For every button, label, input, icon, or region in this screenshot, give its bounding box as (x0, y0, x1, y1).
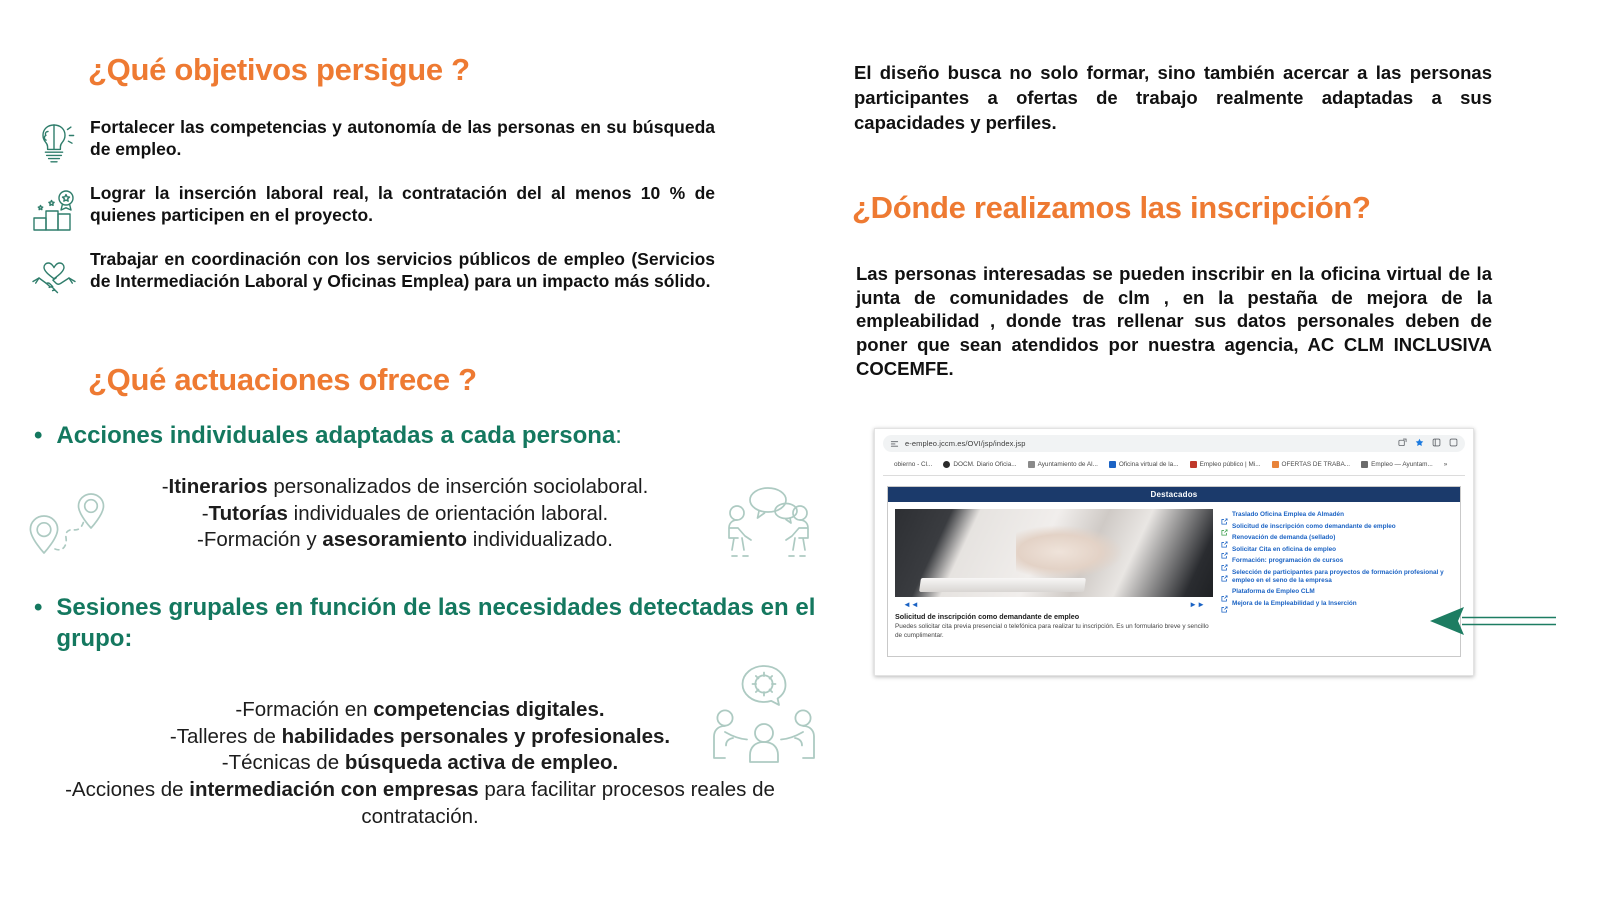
carousel-controls: ◄◄ ►► (895, 597, 1213, 611)
bookmark-label: Oficina virtual de la... (1119, 461, 1179, 468)
sub-list-item: -Acciones de intermediación con empresas… (15, 777, 825, 830)
external-link-icon (1221, 535, 1228, 542)
featured-panel: ◄◄ ►► Solicitud de inscripción como dema… (895, 509, 1213, 640)
bookmark-item[interactable]: Empleo público | Mi... (1190, 461, 1261, 468)
handshake-heart-icon (28, 250, 80, 302)
podium-medal-icon (28, 184, 80, 236)
bookmark-item[interactable]: DOCM. Diario Oficia... (943, 461, 1016, 468)
browser-viewport: Destacados ◄◄ ►► Solicitud de inscripció… (875, 476, 1473, 661)
address-bar-url[interactable]: e-empleo.jccm.es/OVI/jsp/index.jsp (905, 439, 1392, 448)
sub-prefix: - (162, 475, 169, 498)
external-link-icon (1221, 523, 1228, 530)
bookmark-star-icon[interactable] (1415, 438, 1424, 449)
destacados-header: Destacados (888, 487, 1460, 502)
slide-root: ¿Qué objetivos persigue ? Fortalecer las… (0, 0, 1600, 900)
paragraph-inscribir: Las personas interesadas se pueden inscr… (856, 262, 1492, 380)
list-item-label: Selección de participantes para proyecto… (1232, 569, 1454, 586)
right-column: El diseño busca no solo formar, sino tam… (840, 0, 1600, 900)
omnibar-actions (1398, 438, 1458, 449)
list-item[interactable]: Plataforma de Empleo CLM (1221, 588, 1454, 596)
sub-list-item: -Formación y asesoramiento individualiza… (95, 527, 715, 554)
list-item-label: Renovación de demanda (sellado) (1232, 534, 1335, 542)
sub-prefix: -Formación en (235, 698, 373, 721)
sub-list-item: -Itinerarios personalizados de inserción… (95, 474, 715, 501)
sub-list-item: -Tutorías individuales de orientación la… (95, 501, 715, 528)
list-item[interactable]: Renovación de demanda (sellado) (1221, 534, 1454, 542)
sub-rest: individualizado. (467, 528, 613, 551)
destacados-body: ◄◄ ►► Solicitud de inscripción como dema… (888, 502, 1460, 645)
destacados-card: Destacados ◄◄ ►► Solicitud de inscripció… (887, 486, 1461, 657)
site-settings-icon[interactable] (890, 439, 899, 448)
objective-text: Trabajar en coordinación con los servici… (90, 248, 715, 293)
bullet-label: Sesiones grupales en función de las nece… (56, 592, 834, 654)
external-link-icon (1221, 569, 1228, 576)
bookmark-favicon (1109, 461, 1116, 468)
bookmark-item[interactable]: obierno - Cl... (884, 461, 932, 468)
carousel-prev-icon[interactable]: ◄◄ (903, 600, 919, 609)
sub-bold: Itinerarios (169, 475, 268, 498)
list-item[interactable]: Mejora de la Empleabilidad y la Inserció… (1221, 600, 1454, 608)
list-item-label: Traslado Oficina Emplea de Almadén (1232, 511, 1344, 519)
bookmark-item[interactable]: Ayuntamiento de Al... (1028, 461, 1098, 468)
sub-prefix: -Formación y (197, 528, 322, 551)
list-item[interactable]: Solicitar Cita en oficina de empleo (1221, 546, 1454, 554)
sub-list-item: -Talleres de habilidades personales y pr… (15, 724, 825, 751)
featured-description: Puedes solicitar cita previa presencial … (895, 623, 1213, 640)
bookmark-item[interactable]: Empleo — Ayuntam... (1361, 461, 1433, 468)
sub-bold: intermediación con empresas (189, 778, 478, 801)
sub-prefix: -Talleres de (170, 725, 282, 748)
featured-photo (895, 509, 1213, 597)
external-link-icon (1221, 600, 1228, 607)
browser-screenshot: e-empleo.jccm.es/OVI/jsp/index.jsp (874, 428, 1474, 676)
list-item[interactable]: Formación: programación de cursos (1221, 557, 1454, 565)
featured-title: Solicitud de inscripción como demandante… (895, 612, 1213, 621)
sub-prefix: - (202, 502, 209, 525)
external-link-icon (1221, 546, 1228, 553)
sub-bold: competencias digitales. (373, 698, 604, 721)
sub-bold: habilidades personales y profesionales. (282, 725, 671, 748)
objective-text: Lograr la inserción laboral real, la con… (90, 182, 715, 227)
sub-bold: asesoramiento (322, 528, 467, 551)
external-link-icon (1221, 558, 1228, 565)
bookmark-favicon (1361, 461, 1368, 468)
bullet-acciones-individuales: • Acciones individuales adaptadas a cada… (34, 420, 824, 451)
sub-bold: Tutorías (209, 502, 288, 525)
sub-list-item: -Técnicas de búsqueda activa de empleo. (15, 750, 825, 777)
bookmarks-bar: obierno - Cl... DOCM. Diario Oficia... A… (883, 456, 1465, 472)
bookmark-favicon (1028, 461, 1035, 468)
list-item[interactable]: Traslado Oficina Emplea de Almadén (1221, 511, 1454, 519)
bookmark-favicon (1272, 461, 1279, 468)
bookmark-label: obierno - Cl... (894, 461, 932, 468)
carousel-next-icon[interactable]: ►► (1189, 600, 1205, 609)
heading-actuaciones: ¿Qué actuaciones ofrece ? (88, 362, 477, 398)
destacados-link-list: Traslado Oficina Emplea de Almadén Solic… (1221, 509, 1454, 640)
sub-list-grupal: -Formación en competencias digitales. -T… (15, 697, 825, 830)
share-icon[interactable] (1398, 438, 1407, 449)
objective-text: Fortalecer las competencias y autonomía … (90, 116, 715, 161)
sub-list-individual: -Itinerarios personalizados de inserción… (95, 474, 715, 554)
bullet-marker-icon: • (34, 592, 42, 654)
sub-prefix: -Técnicas de (222, 751, 345, 774)
objective-item: Fortalecer las competencias y autonomía … (28, 116, 715, 170)
highlight-arrow-icon (1428, 604, 1556, 638)
bullet-label: Acciones individuales adaptadas a cada p… (56, 422, 615, 449)
browser-chrome: e-empleo.jccm.es/OVI/jsp/index.jsp (875, 429, 1473, 476)
two-people-conversation-icon (710, 478, 820, 568)
list-item[interactable]: Selección de participantes para proyecto… (1221, 569, 1454, 586)
bookmarks-overflow-icon[interactable]: » (1444, 461, 1448, 468)
list-item-label: Solicitud de inscripción como demandante… (1232, 523, 1396, 531)
bookmark-item[interactable]: OFERTAS DE TRABA... (1272, 461, 1351, 468)
bullet-sesiones-grupales: • Sesiones grupales en función de las ne… (34, 592, 834, 654)
bookmark-favicon (943, 461, 950, 468)
bookmark-label: OFERTAS DE TRABA... (1282, 461, 1351, 468)
bookmark-label: DOCM. Diario Oficia... (953, 461, 1016, 468)
sub-rest: personalizados de inserción sociolaboral… (268, 475, 649, 498)
external-link-icon (1221, 512, 1228, 519)
address-bar[interactable]: e-empleo.jccm.es/OVI/jsp/index.jsp (883, 435, 1465, 452)
brain-lightbulb-icon (28, 118, 80, 170)
bookmark-label: Empleo público | Mi... (1200, 461, 1261, 468)
sub-list-item: -Formación en competencias digitales. (15, 697, 825, 724)
bullet-tail: : (615, 422, 622, 449)
heading-objetivos: ¿Qué objetivos persigue ? (88, 52, 470, 88)
objective-item: Lograr la inserción laboral real, la con… (28, 182, 715, 236)
list-item-label: Mejora de la Empleabilidad y la Inserció… (1232, 600, 1357, 608)
paragraph-diseno: El diseño busca no solo formar, sino tam… (854, 60, 1492, 135)
external-link-icon (1221, 589, 1228, 596)
bookmark-favicon (884, 461, 891, 468)
heading-donde-inscripcion: ¿Dónde realizamos las inscripción? (852, 190, 1371, 226)
sub-bold: búsqueda activa de empleo. (345, 751, 618, 774)
bookmark-favicon (1190, 461, 1197, 468)
bookmark-label: Empleo — Ayuntam... (1371, 461, 1433, 468)
sub-rest: individuales de orientación laboral. (288, 502, 608, 525)
profile-icon[interactable] (1449, 438, 1458, 449)
list-item-label: Plataforma de Empleo CLM (1232, 588, 1315, 596)
list-item[interactable]: Solicitud de inscripción como demandante… (1221, 523, 1454, 531)
bookmark-label: Ayuntamiento de Al... (1038, 461, 1098, 468)
sub-prefix: -Acciones de (65, 778, 189, 801)
list-item-label: Solicitar Cita en oficina de empleo (1232, 546, 1336, 554)
bullet-marker-icon: • (34, 420, 42, 451)
left-column: ¿Qué objetivos persigue ? Fortalecer las… (0, 0, 840, 900)
extensions-icon[interactable] (1432, 438, 1441, 449)
list-item-label: Formación: programación de cursos (1232, 557, 1343, 565)
objective-item: Trabajar en coordinación con los servici… (28, 248, 715, 302)
bookmark-item[interactable]: Oficina virtual de la... (1109, 461, 1179, 468)
